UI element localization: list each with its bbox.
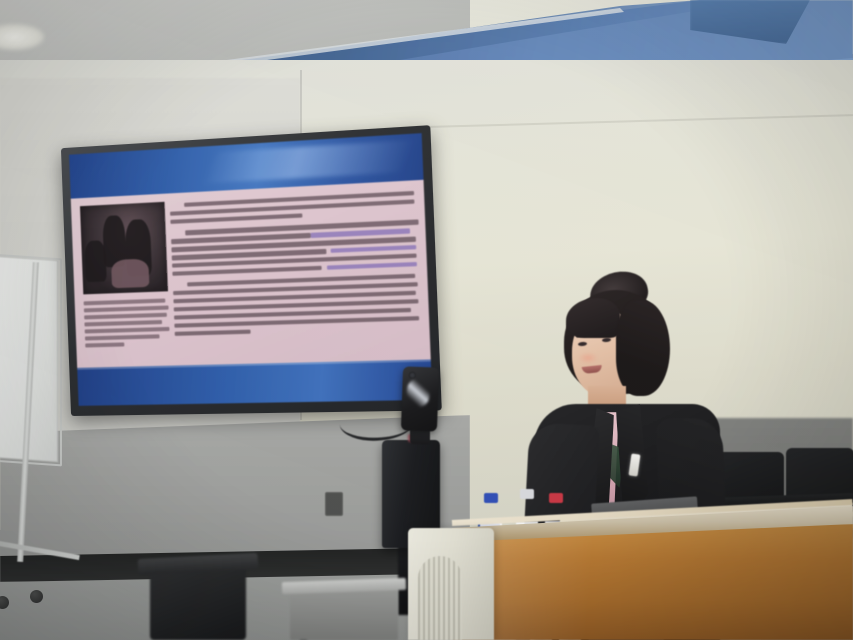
presenter-hair-front [566, 298, 620, 338]
slide-paragraph [173, 274, 420, 337]
smartphone-on-stand[interactable] [401, 366, 439, 431]
slide-paragraph [170, 191, 415, 224]
whiteboard-caster-icon [30, 590, 43, 603]
slide-paragraph [171, 220, 417, 276]
speaker-grille-icon [418, 556, 462, 640]
slide-photo-column [80, 202, 171, 362]
bottle-cap [484, 493, 498, 503]
wall-mounted-tv[interactable] [61, 125, 442, 416]
presenter-cheek [578, 352, 598, 364]
wall-outlet-icon[interactable] [325, 492, 343, 516]
phone-camera-lens-icon [409, 372, 416, 379]
slide-text-column [170, 189, 421, 360]
tv-bezel [61, 125, 442, 416]
slide-body [71, 180, 431, 370]
slide-footer-band [77, 359, 432, 405]
bottle-cap [549, 493, 563, 503]
bottle-cap [520, 489, 534, 499]
slide-photograph [80, 202, 168, 295]
podium-front-panel [452, 524, 853, 640]
scene-root [0, 0, 853, 640]
slide-photo-caption [83, 295, 170, 347]
equipment-cart[interactable] [290, 588, 398, 640]
presenter-hair-side [616, 300, 670, 396]
tv-screen[interactable] [69, 133, 432, 406]
